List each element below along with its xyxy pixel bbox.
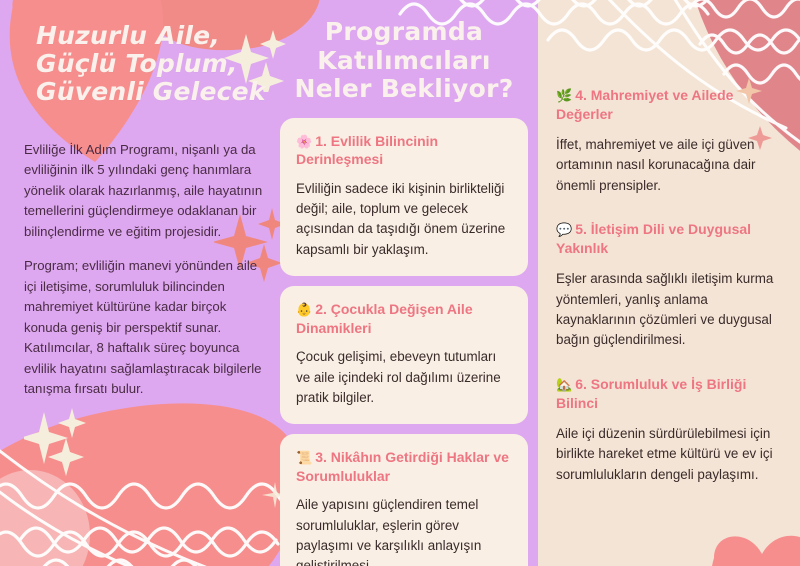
section-2-body: Çocuk gelişimi, ebeveyn tutumları ve ail… [296,347,512,408]
section-4-heading: 🌿4. Mahremiyet ve Ailede Değerler [556,86,782,123]
baby-icon: 👶 [296,302,312,317]
section-5-heading-text: 5. İletişim Dili ve Duygusal Yakınlık [556,221,751,256]
section-card-1: 🌸1. Evlilik Bilincinin Derinleşmesi Evli… [280,118,528,277]
section-3-heading-text: 3. Nikâhın Getirdiği Haklar ve Sorumlulu… [296,449,509,484]
left-column: Huzurlu Aile, Güçlü Toplum, Güvenli Gele… [24,22,269,413]
middle-column: Programda Katılımcıları Neler Bekliyor? … [280,18,528,566]
page-title: Huzurlu Aile, Güçlü Toplum, Güvenli Gele… [36,22,269,106]
section-card-2: 👶2. Çocukla Değişen Aile Dinamikleri Çoc… [280,286,528,424]
section-4-heading-text: 4. Mahremiyet ve Ailede Değerler [556,87,733,122]
section-2-heading-text: 2. Çocukla Değişen Aile Dinamikleri [296,301,473,336]
section-5-body: Eşler arasında sağlıklı iletişim kurma y… [556,269,782,351]
middle-column-heading: Programda Katılımcıları Neler Bekliyor? [280,18,528,104]
section-3-body: Aile yapısını güçlendiren temel sorumlul… [296,495,512,566]
poster-canvas: Huzurlu Aile, Güçlü Toplum, Güvenli Gele… [0,0,800,566]
left-intro-text: Evliliğe İlk Adım Programı, nişanlı ya d… [24,140,269,399]
left-paragraph-1: Evliliğe İlk Adım Programı, nişanlı ya d… [24,140,269,242]
left-paragraph-2: Program; evliliğin manevi yönünden aile … [24,256,269,399]
section-block-6: 🏡6. Sorumluluk ve İş Birliği Bilinci Ail… [556,375,782,485]
section-6-heading: 🏡6. Sorumluluk ve İş Birliği Bilinci [556,375,782,412]
right-column: 🌿4. Mahremiyet ve Ailede Değerler İffet,… [556,86,782,509]
section-1-body: Evliliğin sadece iki kişinin birlikteliğ… [296,179,512,261]
section-1-heading-text: 1. Evlilik Bilincinin Derinleşmesi [296,133,438,168]
section-6-body: Aile içi düzenin sürdürülebilmesi için b… [556,424,782,485]
section-1-heading: 🌸1. Evlilik Bilincinin Derinleşmesi [296,132,512,169]
section-5-heading: 💬5. İletişim Dili ve Duygusal Yakınlık [556,220,782,257]
section-card-3: 📜3. Nikâhın Getirdiği Haklar ve Sorumlul… [280,434,528,566]
section-3-heading: 📜3. Nikâhın Getirdiği Haklar ve Sorumlul… [296,448,512,485]
section-block-4: 🌿4. Mahremiyet ve Ailede Değerler İffet,… [556,86,782,196]
section-block-5: 💬5. İletişim Dili ve Duygusal Yakınlık E… [556,220,782,351]
section-6-heading-text: 6. Sorumluluk ve İş Birliği Bilinci [556,376,746,411]
scroll-icon: 📜 [296,450,312,465]
house-with-garden-icon: 🏡 [556,377,572,392]
section-4-body: İffet, mahremiyet ve aile içi güven orta… [556,135,782,196]
cherry-blossom-icon: 🌸 [296,134,312,149]
herb-icon: 🌿 [556,88,572,103]
section-2-heading: 👶2. Çocukla Değişen Aile Dinamikleri [296,300,512,337]
speech-balloon-icon: 💬 [556,222,572,237]
